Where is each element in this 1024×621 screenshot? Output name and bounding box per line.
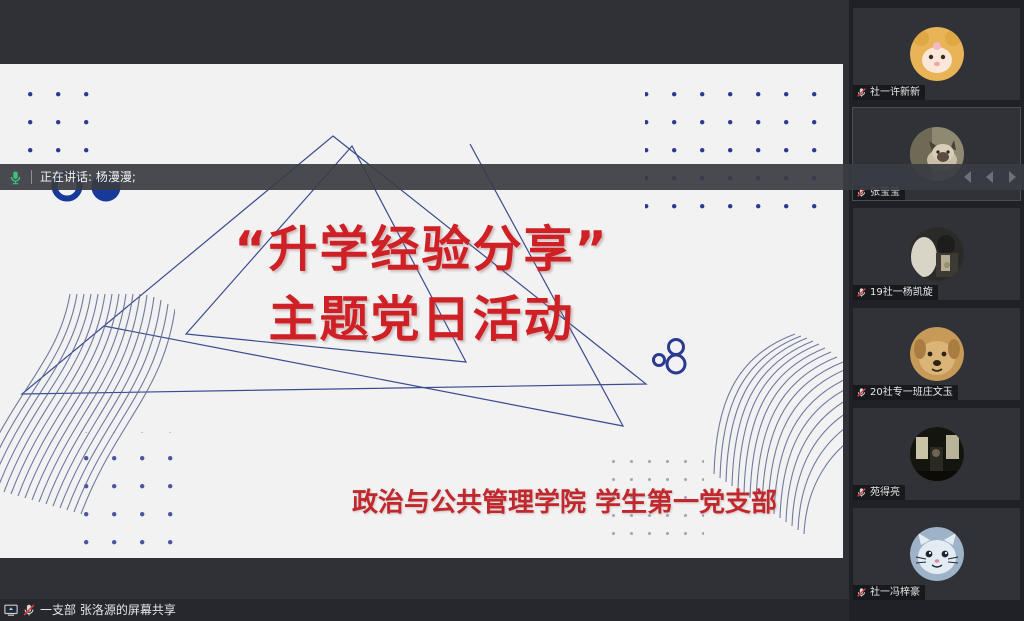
participant-name: 社一许新新 bbox=[870, 87, 920, 98]
dot-grid-top-left bbox=[8, 88, 96, 176]
avatar bbox=[910, 227, 964, 281]
participant-name: 19社一杨凯旋 bbox=[870, 287, 933, 298]
avatar bbox=[910, 527, 964, 581]
mic-muted-icon bbox=[856, 387, 867, 398]
chevron-right-icon[interactable] bbox=[1002, 168, 1022, 186]
participant-tile[interactable]: 19社一杨凯旋 bbox=[853, 208, 1020, 300]
active-speaker-banner: 正在讲话: 杨漫漫; bbox=[0, 164, 1024, 190]
active-speaker-text: 正在讲话: 杨漫漫; bbox=[40, 170, 136, 184]
participant-name-chip: 苑得亮 bbox=[853, 485, 905, 500]
chevron-left-icon[interactable] bbox=[980, 168, 1000, 186]
avatar bbox=[910, 427, 964, 481]
meeting-window: “升学经验分享” 主题党日活动 政治与公共管理学院 学生第一党支部 一支部 张洛… bbox=[0, 0, 1024, 621]
slide-decoration-graphics bbox=[0, 64, 843, 558]
mic-muted-icon bbox=[856, 287, 867, 298]
avatar bbox=[910, 27, 964, 81]
participant-name: 苑得亮 bbox=[870, 487, 900, 498]
participant-name: 社一冯梓豪 bbox=[870, 587, 920, 598]
mic-muted-icon bbox=[22, 603, 36, 617]
screen-share-area[interactable]: “升学经验分享” 主题党日活动 政治与公共管理学院 学生第一党支部 一支部 张洛… bbox=[0, 0, 849, 621]
dot-grid-bottom-right bbox=[600, 446, 704, 550]
presentation-slide: “升学经验分享” 主题党日活动 政治与公共管理学院 学生第一党支部 bbox=[0, 64, 843, 558]
dot-grid-top-right bbox=[645, 88, 835, 218]
share-status-text: 一支部 张洛源的屏幕共享 bbox=[40, 603, 176, 617]
participant-tile[interactable]: 苑得亮 bbox=[853, 408, 1020, 500]
cat-sticker-avatar bbox=[910, 527, 964, 581]
mic-muted-icon bbox=[856, 487, 867, 498]
participant-name-chip: 社一许新新 bbox=[853, 85, 925, 100]
participant-name-chip: 20社专一班庄文玉 bbox=[853, 385, 958, 400]
mic-active-icon bbox=[8, 170, 23, 185]
dark-room-avatar bbox=[910, 427, 964, 481]
cartoon-bear-avatar bbox=[910, 27, 964, 81]
participant-rail[interactable]: 社一许新新 bbox=[849, 0, 1024, 621]
banner-nav-arrows[interactable] bbox=[958, 164, 1024, 190]
mic-muted-icon bbox=[856, 587, 867, 598]
participant-tile[interactable]: 社一冯梓豪 bbox=[853, 508, 1020, 600]
mic-muted-icon bbox=[856, 87, 867, 98]
person-photo-avatar bbox=[910, 227, 964, 281]
participant-name-chip: 19社一杨凯旋 bbox=[853, 285, 938, 300]
dog-photo-avatar bbox=[910, 327, 964, 381]
avatar bbox=[910, 327, 964, 381]
participant-tile[interactable]: 社一许新新 bbox=[853, 8, 1020, 100]
banner-divider bbox=[31, 170, 32, 184]
screen-share-icon bbox=[4, 603, 18, 617]
share-status-bar: 一支部 张洛源的屏幕共享 bbox=[0, 599, 849, 621]
chevron-left-icon[interactable] bbox=[958, 168, 978, 186]
participant-name: 20社专一班庄文玉 bbox=[870, 387, 953, 398]
participant-tile[interactable]: 20社专一班庄文玉 bbox=[853, 308, 1020, 400]
participant-name-chip: 社一冯梓豪 bbox=[853, 585, 925, 600]
